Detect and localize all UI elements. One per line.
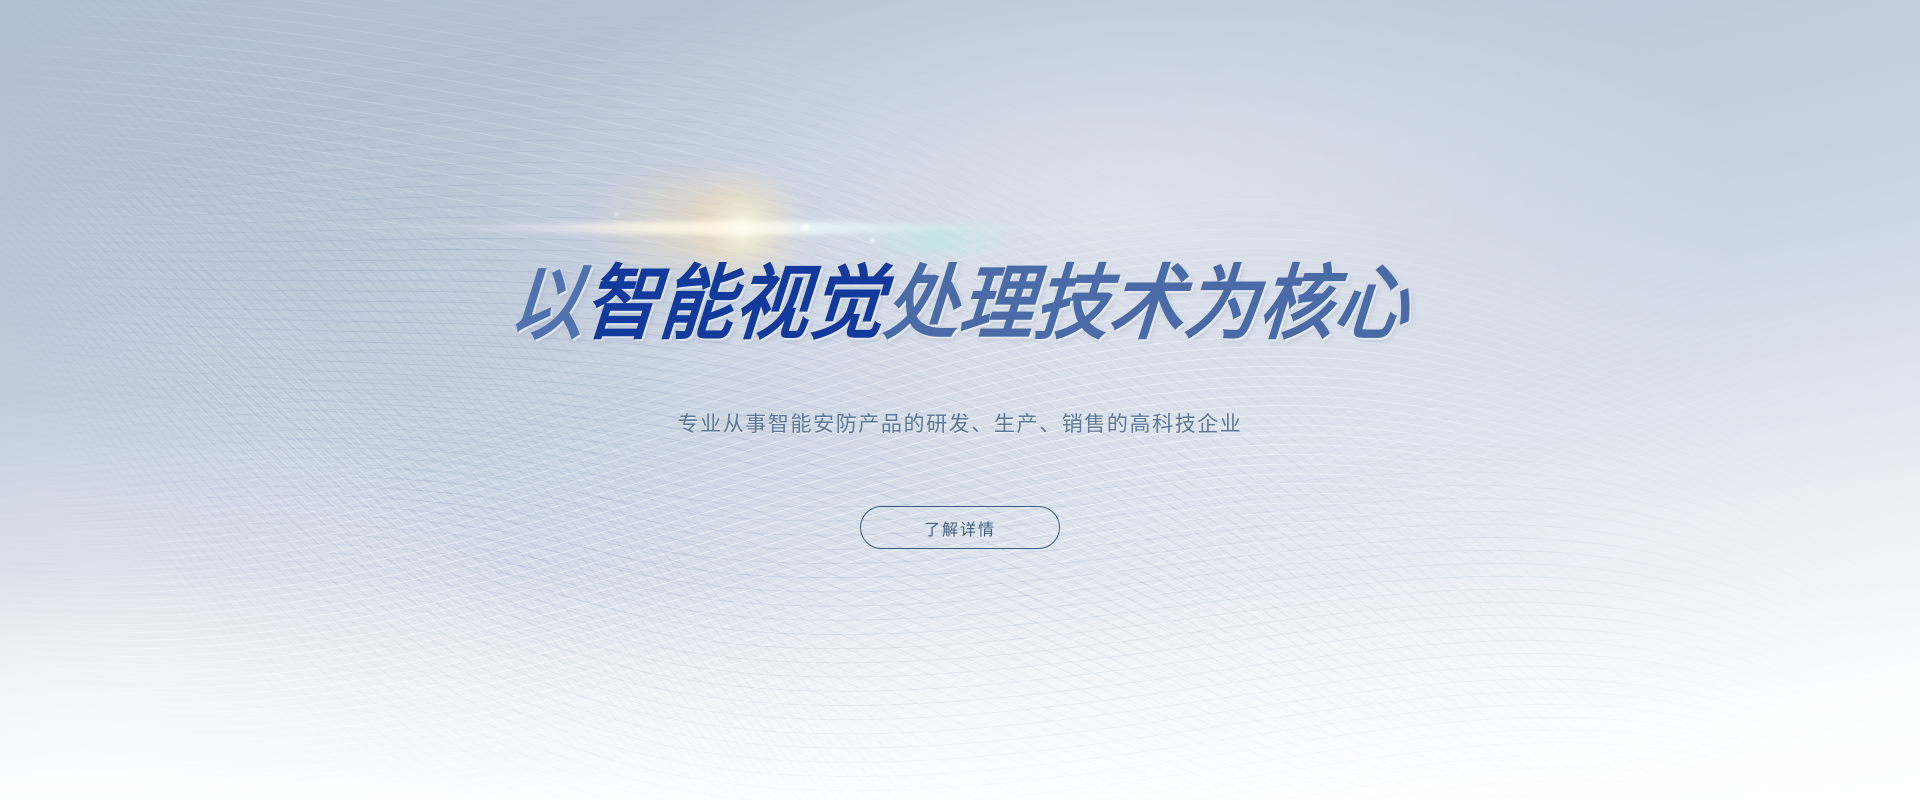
headline-segment-1: 以 [506, 263, 588, 344]
page-title: 以智能视觉处理技术为核心 [510, 267, 1410, 341]
learn-more-button[interactable]: 了解详情 [860, 506, 1060, 549]
headline-segment-2: 智能视觉 [581, 263, 888, 344]
headline-segment-3: 处理技术为核心 [881, 263, 1413, 344]
hero-banner: 以智能视觉处理技术为核心 专业从事智能安防产品的研发、生产、销售的高科技企业 了… [0, 0, 1920, 800]
page-subtitle: 专业从事智能安防产品的研发、生产、销售的高科技企业 [678, 408, 1243, 438]
hero-content: 以智能视觉处理技术为核心 专业从事智能安防产品的研发、生产、销售的高科技企业 了… [0, 0, 1920, 800]
